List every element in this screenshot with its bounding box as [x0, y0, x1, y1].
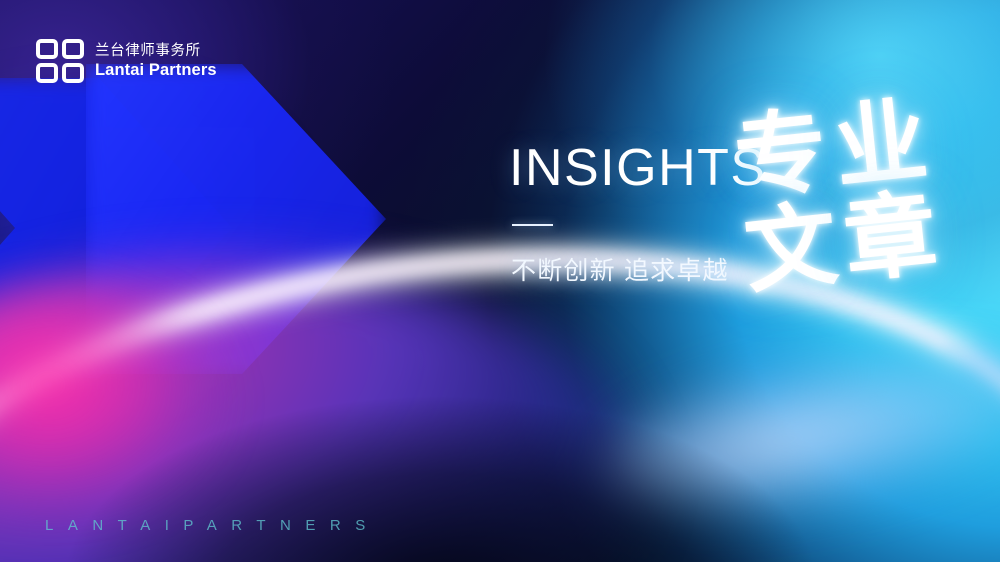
- logo-square-icon-3: [36, 63, 58, 83]
- logo-name-chinese: 兰台律师事务所: [95, 44, 217, 59]
- footer-wordmark: LANTAIPARTNERS: [45, 517, 380, 534]
- big-title-glyph-1: 专: [727, 105, 836, 209]
- logo-wordmark: 兰台律师事务所 Lantai Partners: [95, 44, 217, 79]
- logo-square-icon-1: [36, 39, 58, 59]
- logo-square-icon-2: [62, 39, 84, 59]
- big-title-glyph-4: 章: [836, 187, 945, 291]
- big-chinese-title: 专 业 文 章: [727, 94, 946, 302]
- logo-name-english: Lantai Partners: [95, 62, 217, 79]
- logo-mark-icon: [36, 39, 84, 83]
- title-divider: [512, 224, 553, 226]
- logo-square-icon-4: [62, 63, 84, 83]
- big-title-glyph-3: 文: [737, 198, 846, 302]
- title-slide: 兰台律师事务所 Lantai Partners INSIGHTS 不断创新 追求…: [0, 0, 1000, 562]
- big-title-glyph-2: 业: [826, 94, 935, 198]
- brand-logo[interactable]: 兰台律师事务所 Lantai Partners: [36, 39, 217, 83]
